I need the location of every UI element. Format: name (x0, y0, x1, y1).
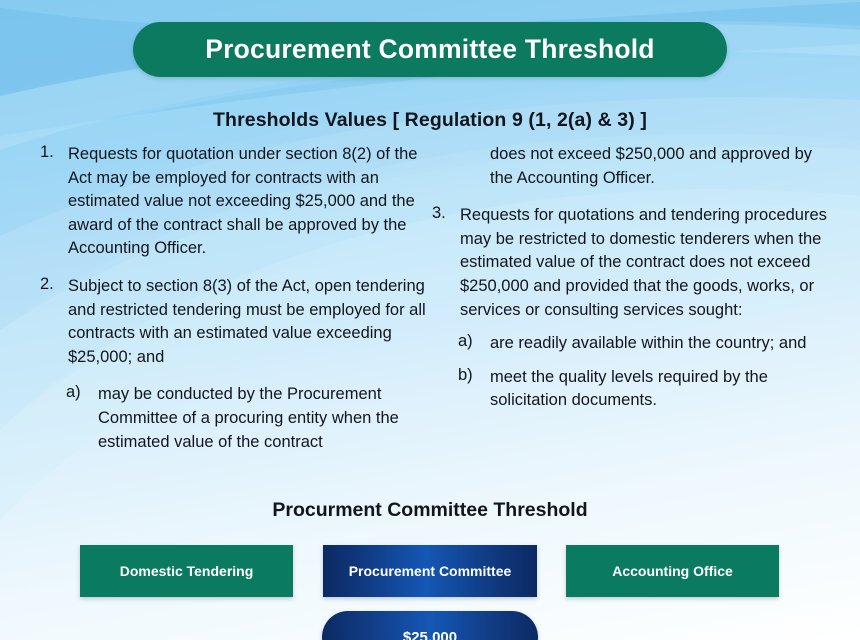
list-item: 3. Requests for quotations and tendering… (432, 204, 832, 322)
list-marker: a) (66, 383, 96, 402)
content-columns: 1. Requests for quotation under section … (0, 143, 860, 483)
list-marker: a) (458, 332, 488, 351)
list-text: Subject to section 8(3) of the Act, open… (68, 275, 435, 369)
list-item: a) are readily available within the coun… (432, 332, 832, 356)
right-column: does not exceed $250,000 and approved by… (432, 143, 832, 427)
slide-subtitle: Thresholds Values [ Regulation 9 (1, 2(a… (0, 109, 860, 132)
slide-title-pill: Procurement Committee Threshold (133, 22, 727, 77)
list-marker: b) (458, 366, 488, 385)
diagram-pill-amount[interactable]: $25,000 (322, 611, 538, 640)
list-text: Requests for quotations and tendering pr… (460, 204, 832, 322)
list-text: does not exceed $250,000 and approved by… (490, 143, 832, 190)
diagram-box-procurement-committee[interactable]: Procurement Committee (323, 545, 537, 597)
list-marker: 1. (40, 143, 66, 162)
list-marker: 3. (432, 204, 458, 223)
list-text: may be conducted by the Procurement Comm… (98, 383, 435, 454)
list-item: b) meet the quality levels required by t… (432, 366, 832, 413)
diagram-box-accounting-office[interactable]: Accounting Office (566, 545, 779, 597)
list-text: Requests for quotation under section 8(2… (68, 143, 435, 261)
list-text: are readily available within the country… (490, 332, 832, 356)
list-item: does not exceed $250,000 and approved by… (432, 143, 832, 190)
list-text: meet the quality levels required by the … (490, 366, 832, 413)
list-marker: 2. (40, 275, 66, 294)
diagram-box-domestic-tendering[interactable]: Domestic Tendering (80, 545, 293, 597)
slide-canvas: Procurement Committee Threshold Threshol… (0, 0, 860, 640)
left-column: 1. Requests for quotation under section … (40, 143, 435, 468)
list-item: 1. Requests for quotation under section … (40, 143, 435, 261)
diagram-title: Procurment Committee Threshold (0, 499, 860, 522)
list-item: a) may be conducted by the Procurement C… (40, 383, 435, 454)
page-title: Procurement Committee Threshold (205, 34, 654, 65)
list-item: 2. Subject to section 8(3) of the Act, o… (40, 275, 435, 369)
